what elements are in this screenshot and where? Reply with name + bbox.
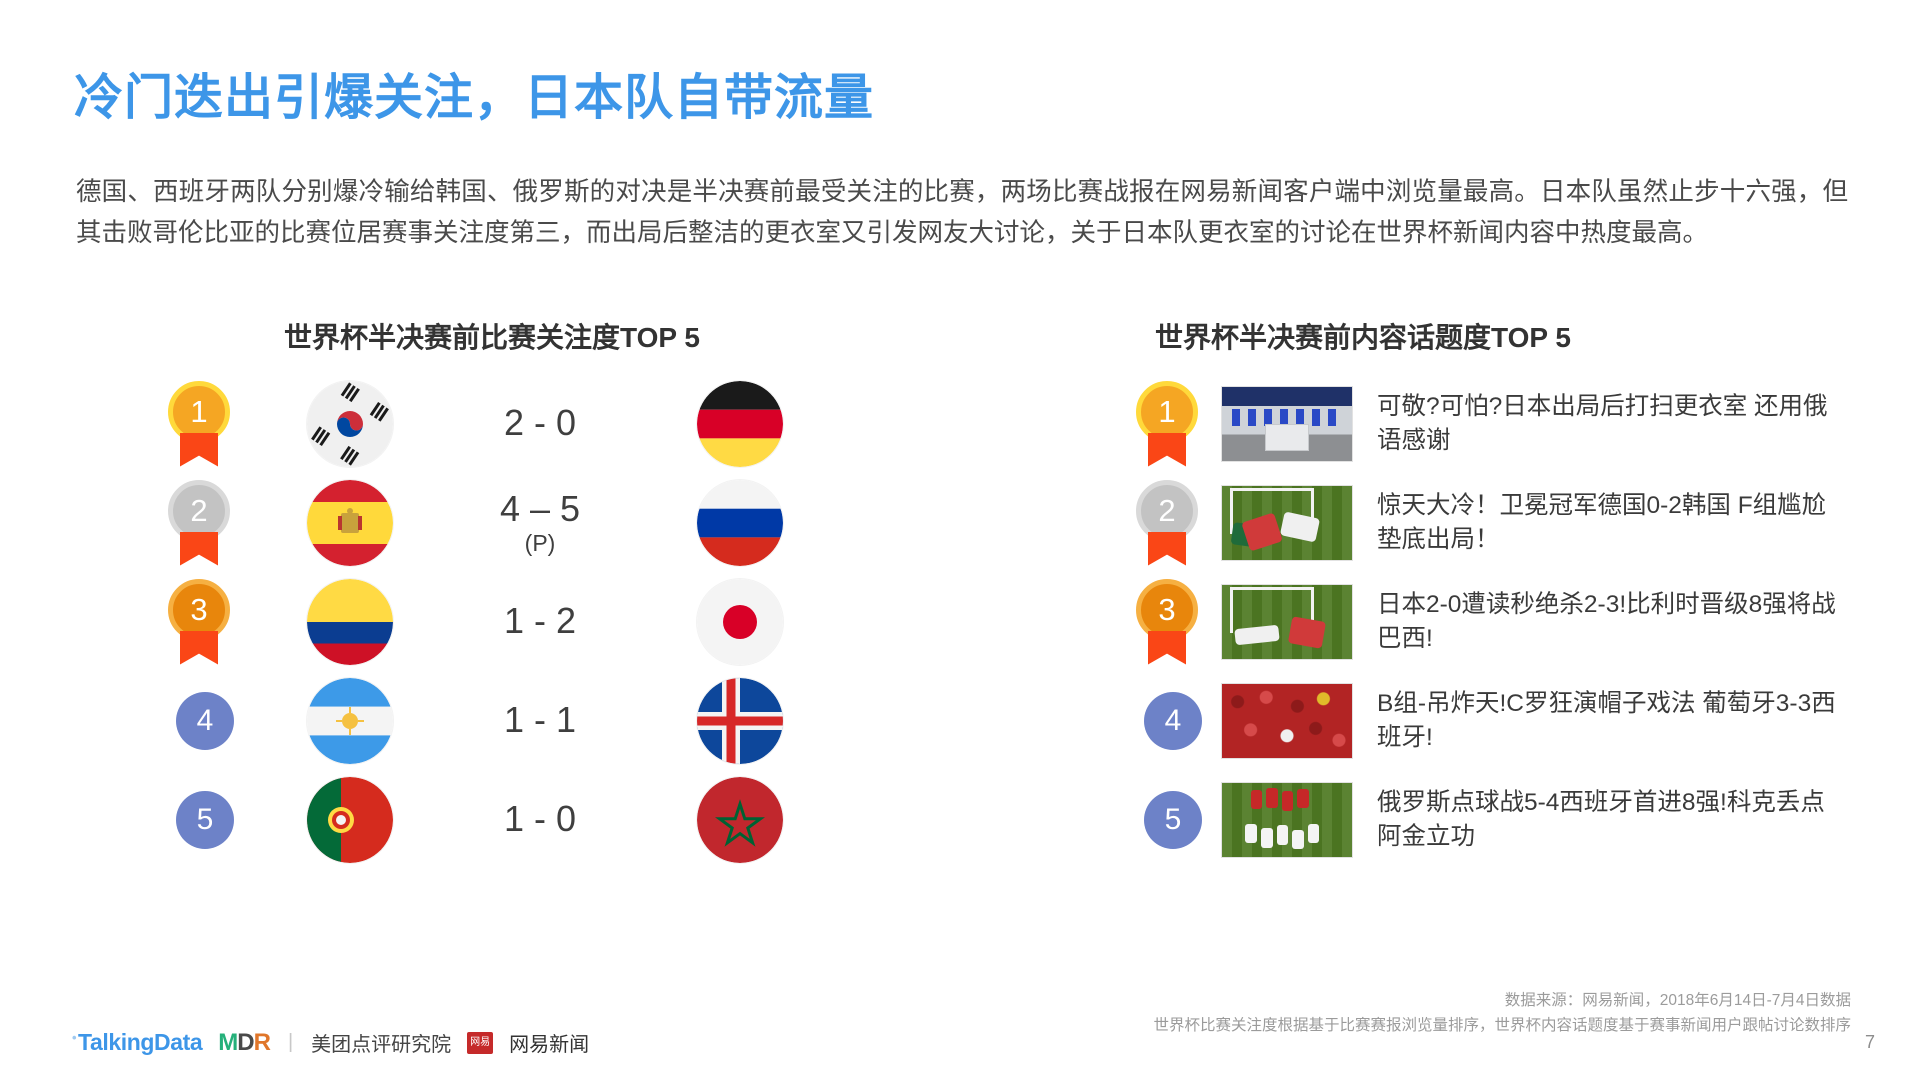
score-text: 1 - 0: [504, 798, 576, 839]
team-b-cell: [640, 381, 840, 467]
list-item: 4 B组-吊炸天!C罗狂演帽子戏法 葡萄牙3-3西班牙!: [1125, 671, 1885, 770]
footer-logos: • TalkingData MDR | 美团点评研究院 网易 网易新闻: [78, 1028, 589, 1057]
rank-cell: 4: [150, 692, 260, 750]
score-text: 1 - 2: [504, 600, 576, 641]
score-text: 2 - 0: [504, 402, 576, 443]
medal-badge-silver: 2: [168, 480, 242, 566]
red-crowd-thumbnail: [1221, 683, 1353, 759]
footnote: 数据来源：网易新闻，2018年6月14日-7月4日数据 世界杯比赛关注度根据基于…: [1153, 988, 1851, 1038]
ribbon-icon: [1148, 631, 1186, 665]
flag-south-korea-icon: [307, 381, 393, 467]
locker-room-thumbnail: [1221, 386, 1353, 462]
team-b-cell: [640, 777, 840, 863]
news-title[interactable]: B组-吊炸天!C罗狂演帽子戏法 葡萄牙3-3西班牙!: [1377, 687, 1847, 755]
news-title[interactable]: 惊天大冷！卫冕冠军德国0-2韩国 F组尴尬垫底出局！: [1377, 489, 1847, 557]
flag-iceland-icon: [697, 678, 783, 764]
news-title[interactable]: 俄罗斯点球战5-4西班牙首进8强!科克丢点阿金立功: [1377, 786, 1847, 854]
score-cell: 1 - 1: [440, 701, 640, 740]
score-text: 1 - 1: [504, 699, 576, 740]
ribbon-icon: [180, 433, 218, 467]
netease-mark-icon: 网易: [467, 1032, 493, 1054]
team-a-cell: [260, 777, 440, 863]
table-row: 1: [150, 374, 910, 473]
score-cell: 1 - 2: [440, 602, 640, 641]
rank-number: 4: [176, 692, 234, 750]
team-b-cell: [640, 579, 840, 665]
footnote-line-1: 数据来源：网易新闻，2018年6月14日-7月4日数据: [1153, 988, 1851, 1013]
meituan-research-logo: 美团点评研究院: [311, 1028, 451, 1057]
rank-cell: 3: [150, 579, 260, 665]
news-title[interactable]: 日本2-0遭读秒绝杀2-3!比利时晋级8强将战巴西!: [1377, 588, 1847, 656]
match-attention-list: 1: [150, 374, 910, 869]
team-a-cell: [260, 678, 440, 764]
footnote-line-2: 世界杯比赛关注度根据基于比赛赛报浏览量排序，世界杯内容话题度基于赛事新闻用户跟帖…: [1153, 1013, 1851, 1038]
list-item: 2 惊天大冷！卫冕冠军德国0-2韩国 F组尴尬垫底出局！: [1125, 473, 1885, 572]
flag-germany-icon: [697, 381, 783, 467]
ribbon-icon: [1148, 433, 1186, 467]
team-a-cell: [260, 480, 440, 566]
flag-spain-icon: [307, 480, 393, 566]
list-item: 3 日本2-0遭读秒绝杀2-3!比利时晋级8强将战巴西!: [1125, 572, 1885, 671]
rank-cell: 1: [1125, 381, 1221, 467]
mdr-logo: MDR: [218, 1029, 270, 1057]
team-b-cell: [640, 678, 840, 764]
table-row: 4: [150, 671, 910, 770]
netease-news-logo: 网易新闻: [509, 1028, 589, 1057]
medal-badge-gold: 1: [168, 381, 242, 467]
rank-cell: 5: [150, 791, 260, 849]
logo-separator: |: [288, 1031, 293, 1054]
score-cell: 1 - 0: [440, 800, 640, 839]
team-a-cell: [260, 381, 440, 467]
score-cell: 2 - 0: [440, 404, 640, 443]
left-section-heading: 世界杯半决赛前比赛关注度TOP 5: [284, 316, 700, 356]
ribbon-icon: [180, 532, 218, 566]
flag-argentina-icon: [307, 678, 393, 764]
news-topic-list: 1 可敬?可怕?日本出局后打扫更衣室 还用俄语感谢 2 惊天大冷！卫冕冠军德国0…: [1125, 374, 1885, 869]
rank-cell: 5: [1125, 791, 1221, 849]
right-section-heading: 世界杯半决赛前内容话题度TOP 5: [1155, 316, 1571, 356]
talkingdata-logo: • TalkingData: [78, 1029, 202, 1056]
page-title: 冷门迭出引爆关注，日本队自带流量: [74, 58, 874, 129]
flag-russia-icon: [697, 480, 783, 566]
rank-number: 4: [1144, 692, 1202, 750]
intro-paragraph: 德国、西班牙两队分别爆冷输给韩国、俄罗斯的对决是半决赛前最受关注的比赛，两场比赛…: [76, 172, 1848, 254]
rank-number: 5: [1144, 791, 1202, 849]
page-number: 7: [1865, 1032, 1875, 1053]
rank-cell: 4: [1125, 692, 1221, 750]
flag-colombia-icon: [307, 579, 393, 665]
medal-badge-bronze: 3: [1136, 579, 1210, 665]
logo-dot-icon: •: [72, 1030, 76, 1045]
rank-cell: 2: [1125, 480, 1221, 566]
medal-badge-bronze: 3: [168, 579, 242, 665]
rank-cell: 1: [150, 381, 260, 467]
goal-scramble-thumbnail: [1221, 485, 1353, 561]
penalty-note: (P): [440, 531, 640, 556]
team-b-cell: [640, 480, 840, 566]
table-row: 3 1 - 2: [150, 572, 910, 671]
ribbon-icon: [1148, 532, 1186, 566]
table-row: 5 1 - 0: [150, 770, 910, 869]
list-item: 5 俄罗斯点球战5-4西班牙首进8强!科克丢点阿金立功: [1125, 770, 1885, 869]
score-text: 4 – 5: [500, 488, 580, 529]
talkingdata-logo-text: TalkingData: [78, 1029, 202, 1055]
medal-badge-gold: 1: [1136, 381, 1210, 467]
celebration-thumbnail: [1221, 782, 1353, 858]
players-on-pitch-thumbnail: [1221, 584, 1353, 660]
medal-badge-silver: 2: [1136, 480, 1210, 566]
rank-cell: 2: [150, 480, 260, 566]
mdr-logo-m: M: [218, 1029, 237, 1056]
rank-cell: 3: [1125, 579, 1221, 665]
table-row: 2: [150, 473, 910, 572]
news-title[interactable]: 可敬?可怕?日本出局后打扫更衣室 还用俄语感谢: [1377, 390, 1847, 458]
flag-japan-icon: [697, 579, 783, 665]
mdr-logo-d: D: [237, 1029, 253, 1056]
slide-root: 冷门迭出引爆关注，日本队自带流量 德国、西班牙两队分别爆冷输给韩国、俄罗斯的对决…: [0, 0, 1921, 1080]
rank-number: 5: [176, 791, 234, 849]
flag-portugal-icon: [307, 777, 393, 863]
mdr-logo-r: R: [254, 1029, 270, 1056]
score-cell: 4 – 5 (P): [440, 490, 640, 556]
list-item: 1 可敬?可怕?日本出局后打扫更衣室 还用俄语感谢: [1125, 374, 1885, 473]
flag-morocco-icon: [697, 777, 783, 863]
team-a-cell: [260, 579, 440, 665]
ribbon-icon: [180, 631, 218, 665]
